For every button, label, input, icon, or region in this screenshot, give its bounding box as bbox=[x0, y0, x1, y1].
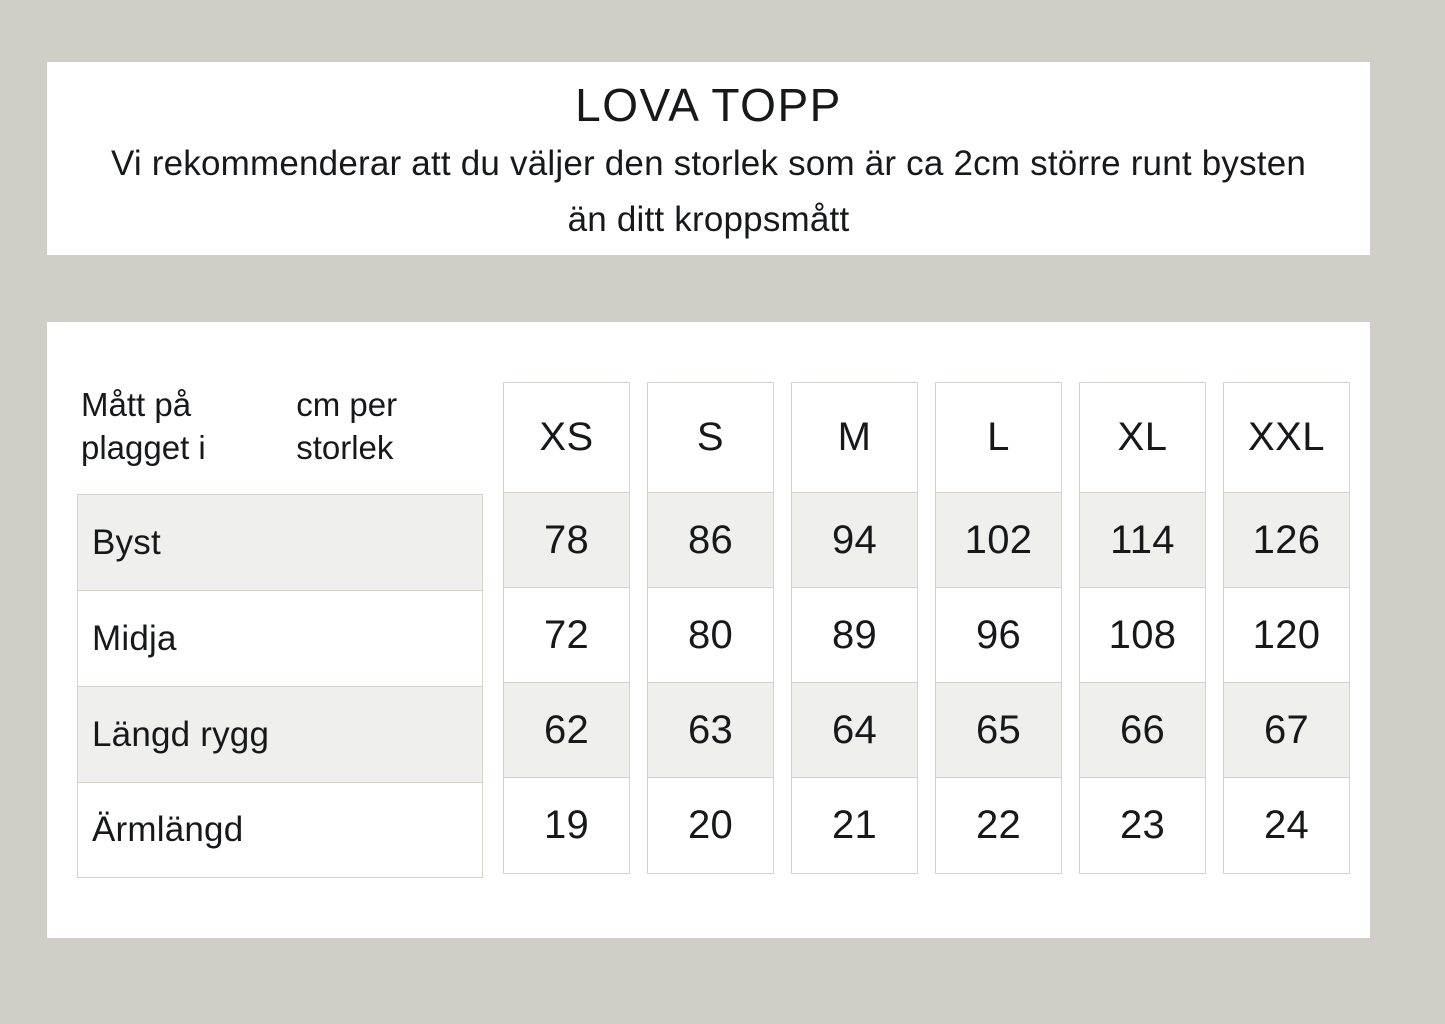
corner-header-line-2: cm per storlek bbox=[296, 384, 479, 470]
size-column-xl: XL 114 108 66 23 bbox=[1079, 382, 1206, 874]
size-column-m: M 94 89 64 21 bbox=[791, 382, 918, 874]
size-header-xxl: XXL bbox=[1224, 383, 1349, 493]
row-label-midja: Midja bbox=[77, 590, 483, 686]
size-guide-page: LOVA TOPP Vi rekommenderar att du väljer… bbox=[0, 0, 1445, 1024]
cell-byst-xs: 78 bbox=[504, 493, 629, 588]
cell-armlangd-l: 22 bbox=[936, 778, 1061, 873]
cell-midja-l: 96 bbox=[936, 588, 1061, 683]
cell-langd-rygg-l: 65 bbox=[936, 683, 1061, 778]
size-columns-group: XS 78 72 62 19 S 86 80 63 20 M 94 89 bbox=[503, 382, 1350, 874]
measurement-label-column: Mått på plagget i cm per storlek Byst Mi… bbox=[77, 382, 483, 878]
row-label-armlangd: Ärmlängd bbox=[77, 782, 483, 878]
page-title: LOVA TOPP bbox=[575, 78, 842, 132]
cell-langd-rygg-m: 64 bbox=[792, 683, 917, 778]
cell-midja-xl: 108 bbox=[1080, 588, 1205, 683]
cell-langd-rygg-xs: 62 bbox=[504, 683, 629, 778]
cell-byst-m: 94 bbox=[792, 493, 917, 588]
cell-byst-l: 102 bbox=[936, 493, 1061, 588]
size-header-s: S bbox=[648, 383, 773, 493]
size-recommendation-text: Vi rekommenderar att du väljer den storl… bbox=[94, 136, 1324, 247]
table-corner-header: Mått på plagget i cm per storlek bbox=[77, 382, 483, 494]
cell-langd-rygg-s: 63 bbox=[648, 683, 773, 778]
size-header-xl: XL bbox=[1080, 383, 1205, 493]
size-header-m: M bbox=[792, 383, 917, 493]
size-header-l: L bbox=[936, 383, 1061, 493]
cell-midja-xs: 72 bbox=[504, 588, 629, 683]
row-label-langd-rygg: Längd rygg bbox=[77, 686, 483, 782]
row-label-byst: Byst bbox=[77, 494, 483, 590]
corner-header-line-1: Mått på plagget i bbox=[81, 384, 296, 470]
header-panel: LOVA TOPP Vi rekommenderar att du väljer… bbox=[47, 62, 1370, 255]
measurement-table-panel: Mått på plagget i cm per storlek Byst Mi… bbox=[47, 322, 1370, 938]
cell-armlangd-xs: 19 bbox=[504, 778, 629, 873]
measurement-table: Mått på plagget i cm per storlek Byst Mi… bbox=[77, 382, 1350, 878]
size-column-l: L 102 96 65 22 bbox=[935, 382, 1062, 874]
cell-armlangd-xxl: 24 bbox=[1224, 778, 1349, 873]
cell-armlangd-xl: 23 bbox=[1080, 778, 1205, 873]
size-header-xs: XS bbox=[504, 383, 629, 493]
size-column-s: S 86 80 63 20 bbox=[647, 382, 774, 874]
cell-langd-rygg-xxl: 67 bbox=[1224, 683, 1349, 778]
cell-langd-rygg-xl: 66 bbox=[1080, 683, 1205, 778]
cell-midja-xxl: 120 bbox=[1224, 588, 1349, 683]
cell-byst-s: 86 bbox=[648, 493, 773, 588]
cell-byst-xxl: 126 bbox=[1224, 493, 1349, 588]
cell-armlangd-m: 21 bbox=[792, 778, 917, 873]
size-column-xxl: XXL 126 120 67 24 bbox=[1223, 382, 1350, 874]
cell-byst-xl: 114 bbox=[1080, 493, 1205, 588]
cell-midja-s: 80 bbox=[648, 588, 773, 683]
cell-armlangd-s: 20 bbox=[648, 778, 773, 873]
size-column-xs: XS 78 72 62 19 bbox=[503, 382, 630, 874]
cell-midja-m: 89 bbox=[792, 588, 917, 683]
